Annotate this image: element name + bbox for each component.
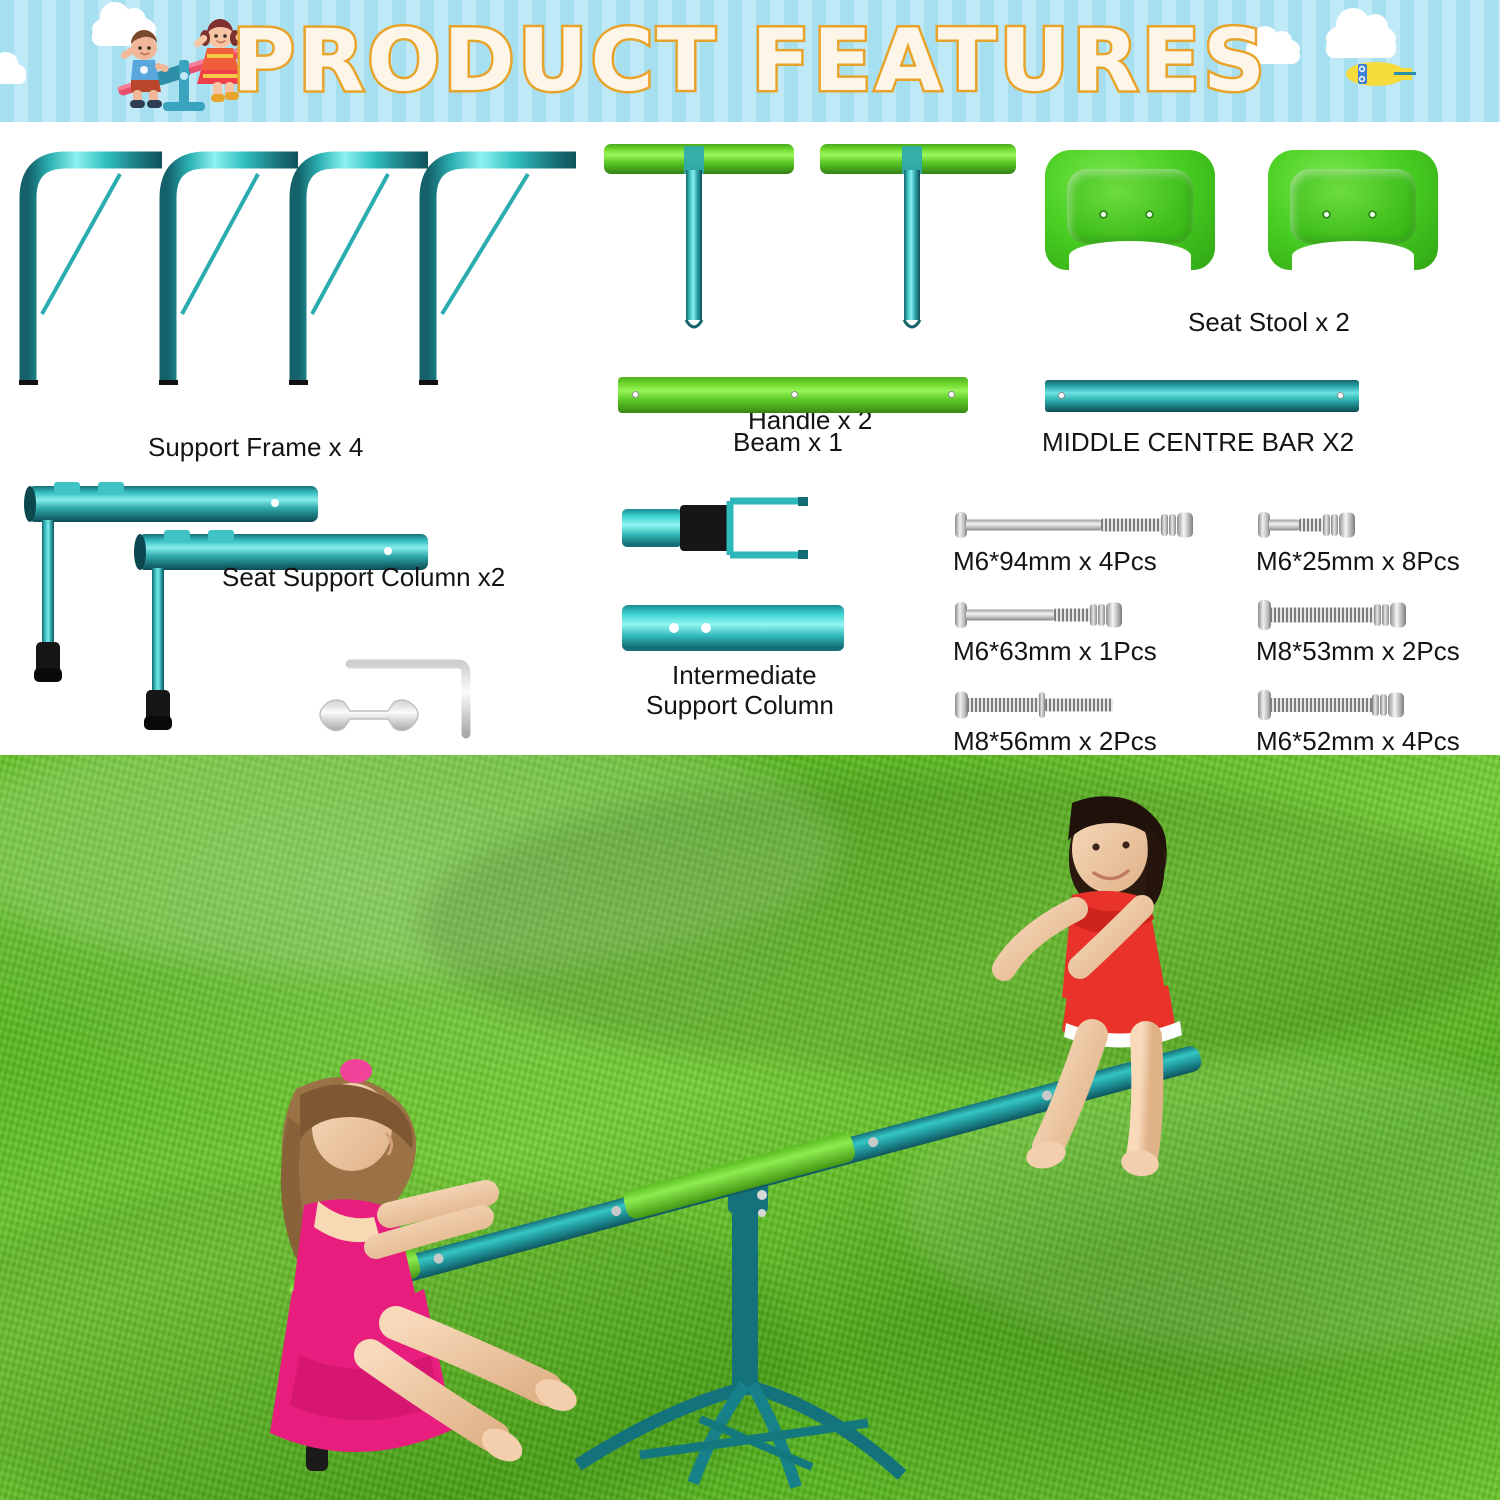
middle-centre-bar-label: MIDDLE CENTRE BAR X2: [1042, 427, 1354, 458]
product-features-infographic: PRODUCT FEATURES: [0, 0, 1500, 1500]
hardware-screw-graphic: [1258, 510, 1368, 540]
seat-stool-label: Seat Stool x 2: [1188, 307, 1350, 338]
seesaw-base: [578, 1179, 902, 1487]
intermediate-support-column-label-line1: Intermediate: [672, 660, 817, 691]
header-banner: PRODUCT FEATURES: [0, 0, 1500, 122]
hardware-screw-graphic: [1258, 600, 1408, 630]
tool-group: [310, 642, 500, 747]
hardware-screw-graphic: [1258, 690, 1408, 720]
hardware-label: M6*63mm x 1Pcs: [953, 636, 1157, 667]
seat-support-column-label: Seat Support Column x2: [222, 562, 505, 593]
intermediate-support-column-label-line2: Support Column: [646, 690, 834, 721]
middle-centre-bar-part: [1045, 380, 1359, 412]
hardware-label: M6*25mm x 8Pcs: [1256, 546, 1460, 577]
parts-diagram-panel: Support Frame x 4: [0, 122, 1500, 755]
handle-group: [600, 136, 1020, 356]
intermediate-support-column-group: [612, 487, 912, 687]
hardware-screw-graphic: [955, 510, 1195, 540]
lifestyle-photo: [0, 755, 1500, 1500]
hardware-screw-graphic: [955, 690, 1135, 720]
page-title: PRODUCT FEATURES: [0, 6, 1500, 116]
beam-part: [618, 377, 968, 413]
hardware-screw-graphic: [955, 600, 1135, 630]
seat-stool-part: [1045, 150, 1215, 270]
child-right: [960, 785, 1280, 1205]
support-frame-group: [10, 132, 590, 422]
support-frame-label: Support Frame x 4: [148, 432, 363, 463]
hardware-label: M8*56mm x 2Pcs: [953, 726, 1157, 757]
beam-label: Beam x 1: [733, 427, 843, 458]
hardware-label: M6*52mm x 4Pcs: [1256, 726, 1460, 757]
seat-stool-part: [1268, 150, 1438, 270]
hardware-label: M6*94mm x 4Pcs: [953, 546, 1157, 577]
hardware-label: M8*53mm x 2Pcs: [1256, 636, 1460, 667]
child-left: [200, 1055, 620, 1500]
